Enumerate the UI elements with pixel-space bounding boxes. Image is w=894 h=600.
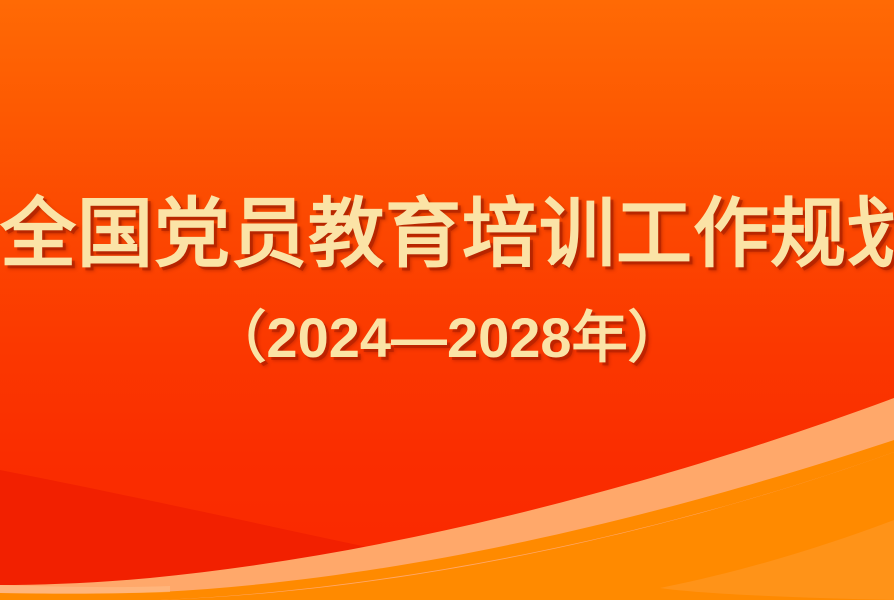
title-group: 全国党员教育培训工作规划 （2024—2028年） <box>0 0 894 600</box>
page-title: 全国党员教育培训工作规划 <box>0 197 894 273</box>
page-subtitle: （2024—2028年） <box>0 310 894 366</box>
poster-banner: 全国党员教育培训工作规划 （2024—2028年） <box>0 0 894 600</box>
